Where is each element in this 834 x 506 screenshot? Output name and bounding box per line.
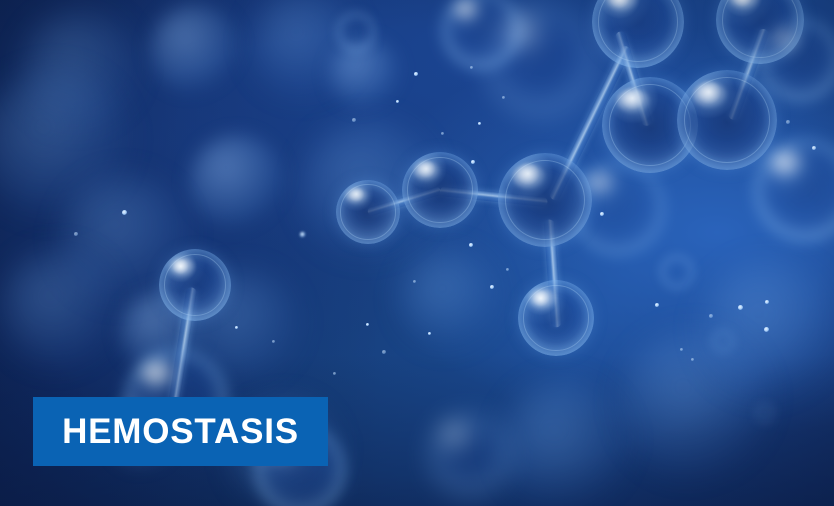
hemostasis-label-text: HEMOSTASIS (62, 414, 299, 449)
hero-banner: HEMOSTASIS (0, 0, 834, 506)
hemostasis-label-banner: HEMOSTASIS (33, 397, 328, 466)
